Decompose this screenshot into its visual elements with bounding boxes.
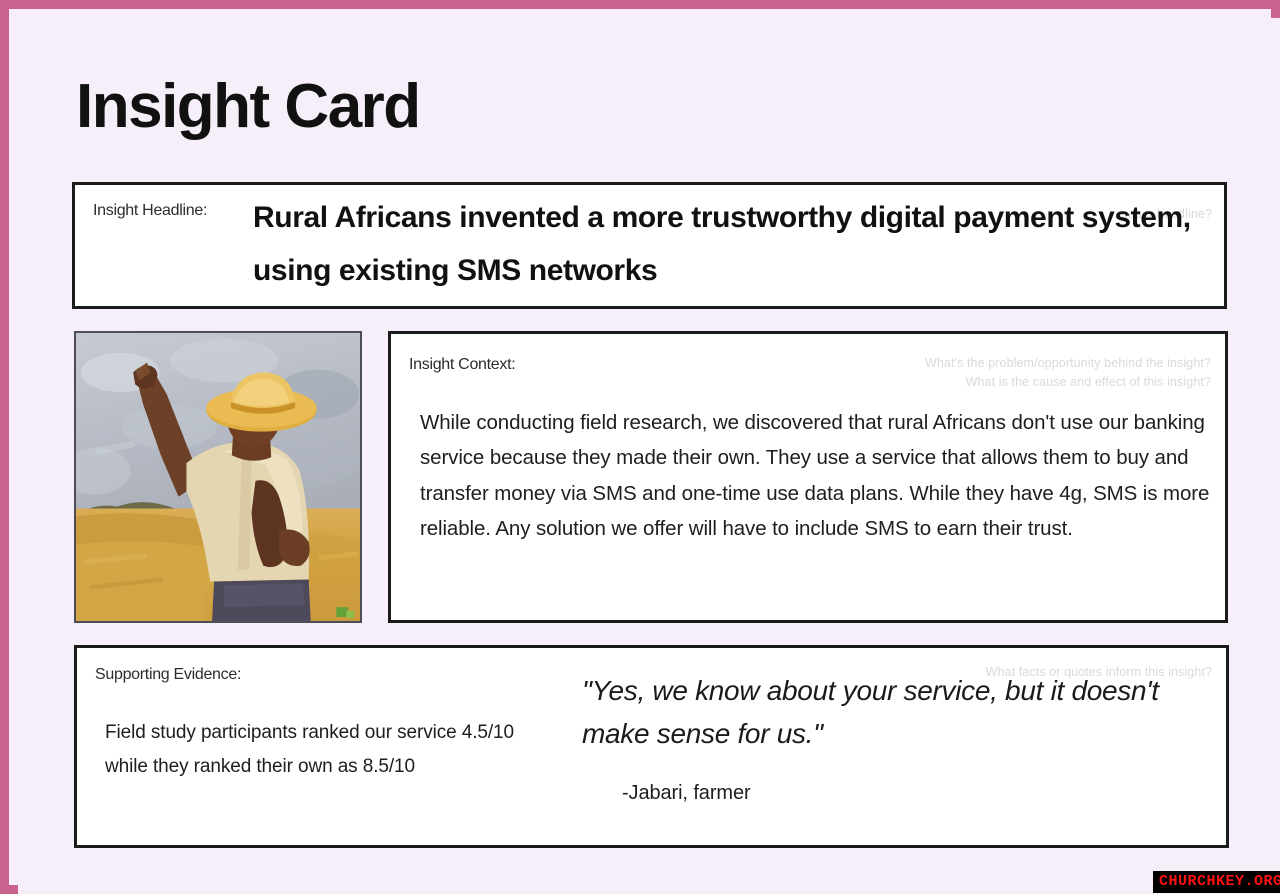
insight-headline-text: Rural Africans invented a more trustwort… <box>253 192 1203 297</box>
insight-headline-label: Insight Headline: <box>93 202 207 220</box>
insight-context-box[interactable]: Insight Context: What's the problem/oppo… <box>388 331 1228 623</box>
insight-photo <box>74 331 362 623</box>
supporting-evidence-text: Field study participants ranked our serv… <box>105 716 525 784</box>
watermark: CHURCHKEY.ORG <box>1153 871 1280 893</box>
supporting-evidence-label: Supporting Evidence: <box>95 666 241 684</box>
insight-headline-box[interactable]: Insight Headline: ...paper headline? Rur… <box>72 182 1227 309</box>
insight-context-hint-1: What's the problem/opportunity behind th… <box>925 354 1211 373</box>
insight-context-text: While conducting field research, we disc… <box>420 405 1210 547</box>
farmer-photo-illustration <box>76 333 360 621</box>
evidence-quote-block: "Yes, we know about your service, but it… <box>582 670 1202 805</box>
page-title: Insight Card <box>76 76 420 138</box>
insight-context-hints: What's the problem/opportunity behind th… <box>925 354 1211 392</box>
page-frame: Insight Card Insight Headline: ...paper … <box>0 0 1280 894</box>
insight-context-hint-2: What is the cause and effect of this ins… <box>925 373 1211 392</box>
evidence-quote: "Yes, we know about your service, but it… <box>582 670 1202 756</box>
supporting-evidence-box[interactable]: Supporting Evidence: What facts or quote… <box>74 645 1229 848</box>
insight-context-label: Insight Context: <box>409 356 515 374</box>
evidence-quote-attribution: -Jabari, farmer <box>622 782 1202 805</box>
card-sheet: Insight Card Insight Headline: ...paper … <box>18 18 1280 894</box>
